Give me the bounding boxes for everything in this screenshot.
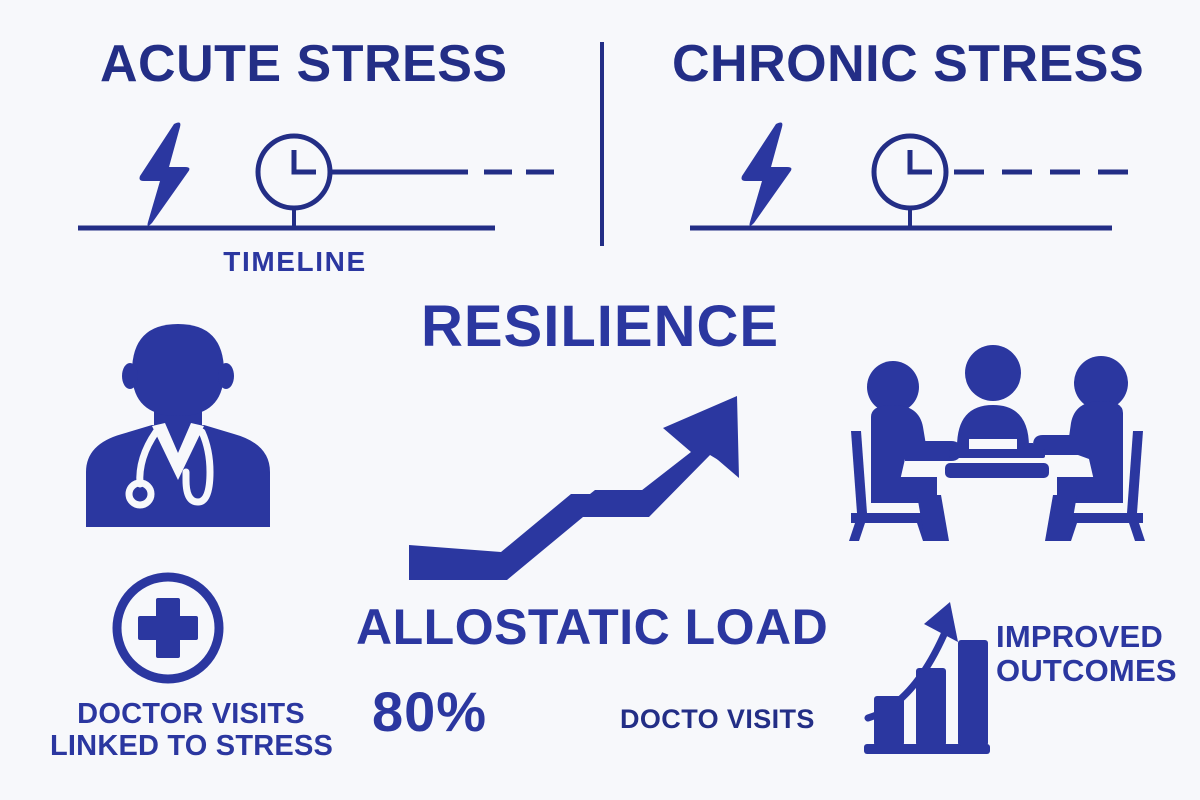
people-meeting-icon bbox=[845, 335, 1155, 545]
lightning-bolt-icon bbox=[140, 123, 190, 226]
panel-divider bbox=[600, 42, 604, 246]
lightning-bolt-icon bbox=[742, 123, 792, 226]
outcomes-caption-line-1: IMPROVED bbox=[996, 620, 1196, 654]
chronic-timeline-graphic bbox=[672, 110, 1142, 240]
bar-1 bbox=[874, 696, 904, 746]
infographic-canvas: ACUTE STRESS CHRONIC STRESS bbox=[0, 0, 1200, 800]
timeline-label: TIMELINE bbox=[180, 248, 410, 276]
clock-icon bbox=[258, 136, 330, 208]
medical-cross-icon bbox=[110, 570, 226, 686]
improved-outcomes-caption: IMPROVED OUTCOMES bbox=[996, 620, 1196, 688]
chronic-stress-title: CHRONIC STRESS bbox=[672, 38, 1144, 90]
bar-3 bbox=[958, 640, 988, 746]
doctor-caption-line-2: LINKED TO STRESS bbox=[50, 730, 332, 762]
doctor-caption-line-1: DOCTOR VISITS bbox=[50, 698, 332, 730]
growth-bar-chart-icon bbox=[862, 592, 998, 760]
allostatic-load-value: 80% bbox=[372, 684, 487, 740]
allostatic-load-title: ALLOSTATIC LOAD bbox=[356, 602, 828, 652]
meeting-table bbox=[945, 449, 1049, 478]
doctor-visits-caption: DOCTOR VISITS LINKED TO STRESS bbox=[50, 698, 332, 763]
acute-timeline-graphic bbox=[70, 110, 540, 240]
bar-2 bbox=[916, 668, 946, 746]
upward-trend-arrow-icon bbox=[405, 382, 745, 582]
outcomes-caption-line-2: OUTCOMES bbox=[996, 654, 1196, 688]
docto-visits-label: DOCTO VISITS bbox=[620, 706, 815, 733]
clock-icon bbox=[874, 136, 946, 208]
acute-stress-title: ACUTE STRESS bbox=[100, 38, 508, 90]
doctor-avatar-icon bbox=[78, 322, 278, 527]
